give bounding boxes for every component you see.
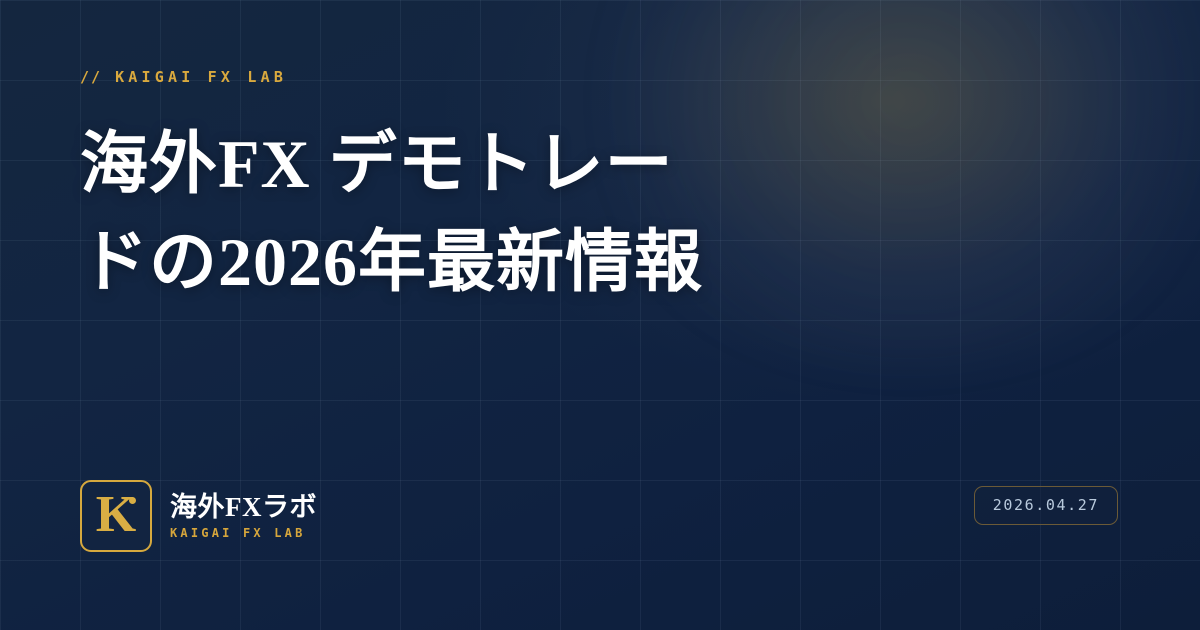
brand-text: 海外FXラボ KAIGAI FX LAB (170, 492, 317, 540)
eyebrow-slashes-icon: // (80, 68, 102, 86)
brand-name-en: KAIGAI FX LAB (170, 526, 317, 540)
eyebrow-text: KAIGAI FX LAB (115, 68, 287, 86)
date-badge: 2026.04.27 (974, 486, 1118, 525)
logo-dot-icon (129, 497, 136, 504)
page-title-line-2: ドの2026年最新情報 (80, 224, 703, 300)
eyebrow-label: // KAIGAI FX LAB (80, 68, 287, 86)
page-title-line-1: 海外FX デモトレー (80, 126, 674, 202)
logo-letter-k: K (82, 489, 150, 541)
brand-lockup: K 海外FXラボ KAIGAI FX LAB (80, 480, 317, 552)
date-badge-value: 2026.04.27 (993, 496, 1099, 514)
page-title: 海外FX デモトレー ドの2026年最新情報 (80, 116, 940, 312)
ogp-card: // KAIGAI FX LAB 海外FX デモトレー ドの2026年最新情報 … (0, 0, 1200, 630)
brand-name-jp: 海外FXラボ (170, 492, 317, 523)
logo-mark: K (80, 480, 152, 552)
card-footer: K 海外FXラボ KAIGAI FX LAB 2026.04.27 (0, 480, 1200, 630)
